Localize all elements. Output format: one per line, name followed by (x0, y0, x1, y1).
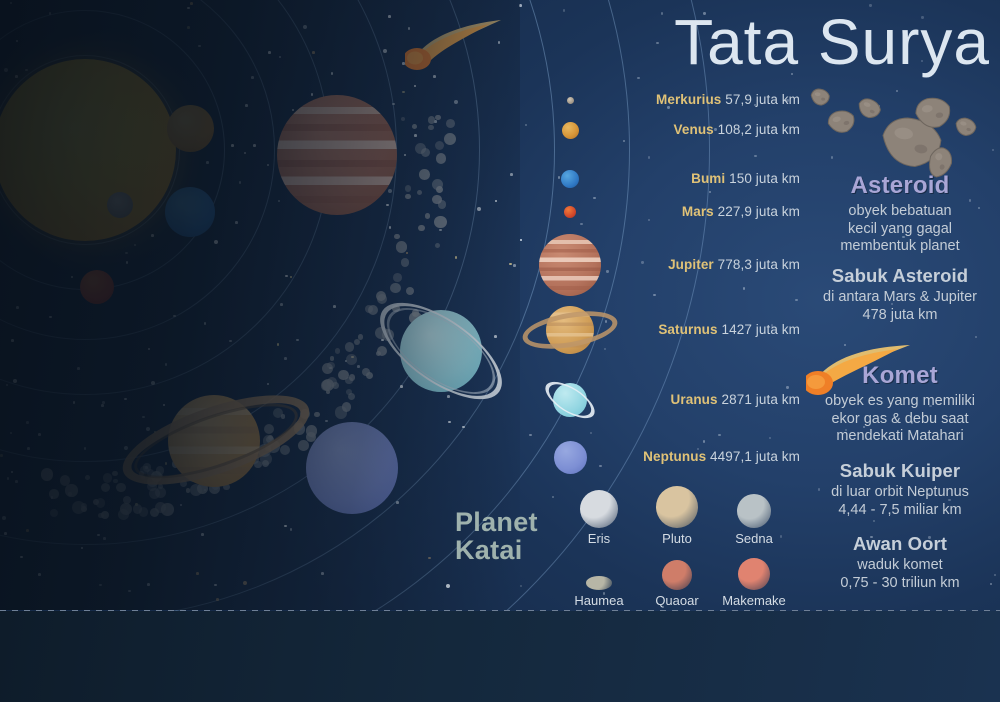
asteroid-desc-2: kecil yang gagal (800, 221, 1000, 239)
star-dot (433, 75, 436, 78)
asteroid-belt-rock (60, 475, 70, 485)
star-dot (26, 421, 29, 424)
footer: LANGITSELATAN ASTRO langitselatan i (0, 611, 1000, 702)
star-dot (280, 303, 283, 306)
oort-cloud-block: Awan Oort waduk komet 0,75 - 30 triliun … (800, 533, 1000, 592)
star-dot (529, 434, 531, 436)
star-dot (653, 294, 655, 296)
planet-icon-venus (562, 122, 579, 139)
star-dot (251, 76, 254, 79)
asteroid-belt-rock (436, 153, 446, 163)
star-dot (606, 270, 608, 272)
star-dot (396, 501, 399, 504)
star-dot (388, 189, 392, 193)
planet-name: Venus (674, 122, 714, 137)
planet-distance: 2871 juta km (718, 392, 800, 407)
asteroid-belt-rock (418, 225, 424, 231)
planet-icon-jupiter (539, 234, 601, 296)
comet-desc-2: ekor gas & debu saat (800, 411, 1000, 429)
planet-distance: 57,9 juta km (721, 92, 800, 107)
asteroid-belt-rock (412, 124, 417, 129)
oort-title: Awan Oort (800, 533, 1000, 555)
star-dot (126, 261, 129, 264)
asteroid-belt-desc-2: 478 juta km (800, 307, 1000, 325)
star-dot (285, 275, 288, 278)
dwarf-planet-quaoar: Quaoar (642, 548, 712, 608)
star-dot (558, 176, 560, 178)
asteroid-belt-rock (41, 468, 53, 480)
planet-distance: 227,9 juta km (714, 204, 800, 219)
asteroid-belt-rock (444, 133, 456, 145)
kuiper-title: Sabuk Kuiper (800, 460, 1000, 482)
planet-name: Saturnus (658, 322, 717, 337)
planet-distance: 4497,1 juta km (706, 449, 800, 464)
asteroid-cluster-icon (808, 88, 994, 184)
star-dot (388, 15, 391, 18)
star-dot (243, 581, 247, 585)
star-dot (245, 104, 248, 107)
star-dot (49, 316, 52, 319)
star-dot (97, 534, 100, 537)
star-dot (253, 144, 256, 147)
star-dot (7, 477, 10, 480)
asteroid-belt-desc-1: di antara Mars & Jupiter (800, 289, 1000, 307)
planet-name: Mars (682, 204, 714, 219)
planet-distance: 778,3 juta km (714, 257, 800, 272)
star-dot (414, 134, 417, 137)
diagram-jupiter (277, 95, 397, 215)
star-dot (321, 572, 324, 575)
star-dot (446, 584, 450, 588)
asteroid-belt-rock (49, 489, 58, 498)
planet-label-jupiter: Jupiter 778,3 juta km (668, 257, 800, 272)
planet-label-bumi: Bumi 150 juta km (691, 171, 800, 186)
star-dot (229, 340, 232, 343)
star-dot (383, 49, 387, 53)
asteroid-belt-rock (419, 169, 430, 180)
star-dot (510, 173, 513, 176)
star-dot (599, 465, 601, 467)
star-dot (593, 197, 595, 199)
dwarf-planet-icon (737, 494, 771, 528)
star-dot (389, 226, 392, 229)
diagram-mars (80, 270, 114, 304)
star-dot (235, 221, 238, 224)
star-dot (769, 437, 771, 439)
planet-icon-bumi (561, 170, 579, 188)
planet-label-saturnus: Saturnus 1427 juta km (658, 322, 800, 337)
asteroid-belt-rock (432, 195, 442, 205)
star-dot (402, 91, 405, 94)
diagram-comet-icon (405, 18, 525, 74)
dwarf-planet-sedna: Sedna (719, 486, 789, 546)
kuiper-desc-2: 4,44 - 7,5 miliar km (800, 502, 1000, 520)
star-dot (580, 223, 582, 225)
planet-icon-merkurius (567, 97, 574, 104)
star-dot (2, 516, 6, 520)
star-dot (204, 322, 207, 325)
star-dot (27, 447, 30, 450)
asteroid-belt-rock (434, 216, 447, 229)
star-dot (101, 404, 104, 407)
asteroid-belt-rock (405, 185, 412, 192)
asteroid-belt-title: Sabuk Asteroid (800, 265, 1000, 287)
star-dot (641, 261, 643, 263)
asteroid-belt-rock (330, 356, 334, 360)
star-dot (786, 386, 788, 388)
asteroid-belt-rock (405, 194, 411, 200)
star-dot (190, 2, 193, 5)
planet-label-mars: Mars 227,9 juta km (682, 204, 800, 219)
star-dot (231, 144, 234, 147)
dwarf-heading-line1: Planet (455, 508, 550, 536)
star-dot (975, 336, 977, 338)
comet-title: Komet (800, 362, 1000, 390)
asteroid-belt-rock (435, 243, 440, 248)
dwarf-planet-icon (580, 490, 618, 528)
dwarf-planet-name: Eris (564, 531, 634, 546)
star-dot (11, 339, 14, 342)
star-dot (84, 447, 87, 450)
asteroid-belt-rock (81, 506, 87, 512)
planet-label-uranus: Uranus 2871 juta km (671, 392, 800, 407)
star-dot (16, 306, 19, 309)
dwarf-planet-name: Makemake (719, 593, 789, 608)
star-dot (648, 156, 650, 158)
dwarf-planet-pluto: Pluto (642, 486, 712, 546)
star-dot (73, 401, 76, 404)
asteroid-desc-3: membentuk planet (800, 238, 1000, 256)
asteroid-belt-rock (435, 115, 441, 121)
kuiper-desc-1: di luar orbit Neptunus (800, 484, 1000, 502)
planet-name: Merkurius (656, 92, 721, 107)
star-dot (795, 299, 797, 301)
star-dot (296, 339, 299, 342)
planet-distance: 108,2 juta km (714, 122, 800, 137)
planet-name: Neptunus (643, 449, 706, 464)
asteroid-block: Asteroid obyek bebatuan kecil yang gagal… (800, 172, 1000, 256)
dwarf-planet-name: Quaoar (642, 593, 712, 608)
star-dot (718, 434, 720, 436)
star-dot (38, 433, 41, 436)
dwarf-planet-makemake: Makemake (719, 548, 789, 608)
dwarf-planet-name: Haumea (564, 593, 634, 608)
star-dot (386, 204, 389, 207)
dwarf-planet-icon (586, 576, 612, 590)
planet-distance: 150 juta km (725, 171, 800, 186)
diagram-uranus (340, 262, 540, 432)
star-dot (477, 207, 481, 211)
asteroid-belt-rock (428, 125, 433, 130)
infographic-poster: Tata Surya Merkurius 57,9 juta kmVenus 1… (0, 0, 1000, 702)
comet-desc-1: obyek es yang memiliki (800, 393, 1000, 411)
star-dot (214, 584, 217, 587)
kuiper-belt-block: Sabuk Kuiper di luar orbit Neptunus 4,44… (800, 460, 1000, 519)
planet-name: Bumi (691, 171, 725, 186)
star-dot (187, 7, 190, 10)
star-dot (26, 529, 29, 532)
oort-desc-2: 0,75 - 30 triliun km (800, 575, 1000, 593)
page-title: Tata Surya (560, 5, 990, 79)
star-dot (15, 480, 18, 483)
asteroid-belt-rock (435, 141, 444, 150)
asteroid-belt-rock (417, 190, 422, 195)
planet-name: Jupiter (668, 257, 714, 272)
star-dot (196, 572, 199, 575)
asteroid-belt-rock (101, 511, 109, 519)
planet-label-neptunus: Neptunus 4497,1 juta km (643, 449, 800, 464)
planet-label-merkurius: Merkurius 57,9 juta km (656, 92, 800, 107)
star-dot (15, 75, 18, 78)
star-dot (151, 234, 154, 237)
asteroid-desc-1: obyek bebatuan (800, 203, 1000, 221)
planet-distance: 1427 juta km (718, 322, 800, 337)
dwarf-planet-name: Pluto (642, 531, 712, 546)
star-dot (519, 4, 522, 7)
dwarf-planet-heading: Planet Katai (455, 508, 550, 565)
star-dot (147, 583, 150, 586)
star-dot (99, 584, 102, 587)
dwarf-planet-icon (656, 486, 698, 528)
star-dot (128, 590, 131, 593)
dwarf-planet-icon (738, 558, 770, 590)
asteroid-belt-rock (93, 499, 99, 505)
dwarf-planet-haumea: Haumea (564, 548, 634, 608)
planet-icon-neptunus (554, 441, 587, 474)
star-dot (0, 454, 3, 457)
asteroid-belt-rock (415, 143, 426, 154)
asteroid-belt-rock (425, 213, 431, 219)
star-dot (873, 520, 875, 522)
diagram-sun (0, 59, 176, 241)
comet-desc-3: mendekati Matahari (800, 428, 1000, 446)
asteroid-belt-rock (394, 234, 399, 239)
oort-desc-1: waduk komet (800, 557, 1000, 575)
asteroid-belt-rock (432, 179, 443, 190)
dwarf-planet-grid: ErisPlutoSednaHaumeaQuaoarMakemake (556, 486, 796, 606)
asteroid-belt-rock (50, 509, 58, 517)
asteroid-belt-rock (446, 119, 455, 128)
star-dot (201, 533, 204, 536)
planet-icon-mars (564, 206, 576, 218)
asteroid-belt-block: Sabuk Asteroid di antara Mars & Jupiter … (800, 265, 1000, 324)
comet-block: Komet obyek es yang memiliki ekor gas & … (800, 362, 1000, 446)
star-dot (743, 287, 745, 289)
planet-label-venus: Venus 108,2 juta km (674, 122, 800, 137)
asteroid-belt-rock (428, 116, 435, 123)
diagram-venus (167, 105, 214, 152)
star-dot (709, 191, 711, 193)
diagram-earth (165, 187, 215, 237)
planet-name: Uranus (671, 392, 718, 407)
asteroid-title: Asteroid (800, 172, 1000, 200)
asteroid-belt-rock (401, 117, 405, 121)
diagram-saturn (110, 355, 330, 525)
dwarf-planet-icon (662, 560, 692, 590)
star-dot (103, 537, 106, 540)
star-dot (268, 51, 271, 54)
star-dot (187, 26, 190, 29)
diagram-mercury (107, 192, 133, 218)
star-dot (703, 440, 705, 442)
star-dot (454, 100, 458, 104)
star-dot (333, 305, 336, 308)
diagram-neptune (306, 422, 398, 514)
star-dot (754, 155, 756, 157)
star-dot (4, 532, 7, 535)
star-dot (77, 367, 80, 370)
dwarf-planet-eris: Eris (564, 486, 634, 546)
dwarf-planet-name: Sedna (719, 531, 789, 546)
star-dot (38, 573, 41, 576)
dwarf-heading-line2: Katai (455, 536, 550, 564)
